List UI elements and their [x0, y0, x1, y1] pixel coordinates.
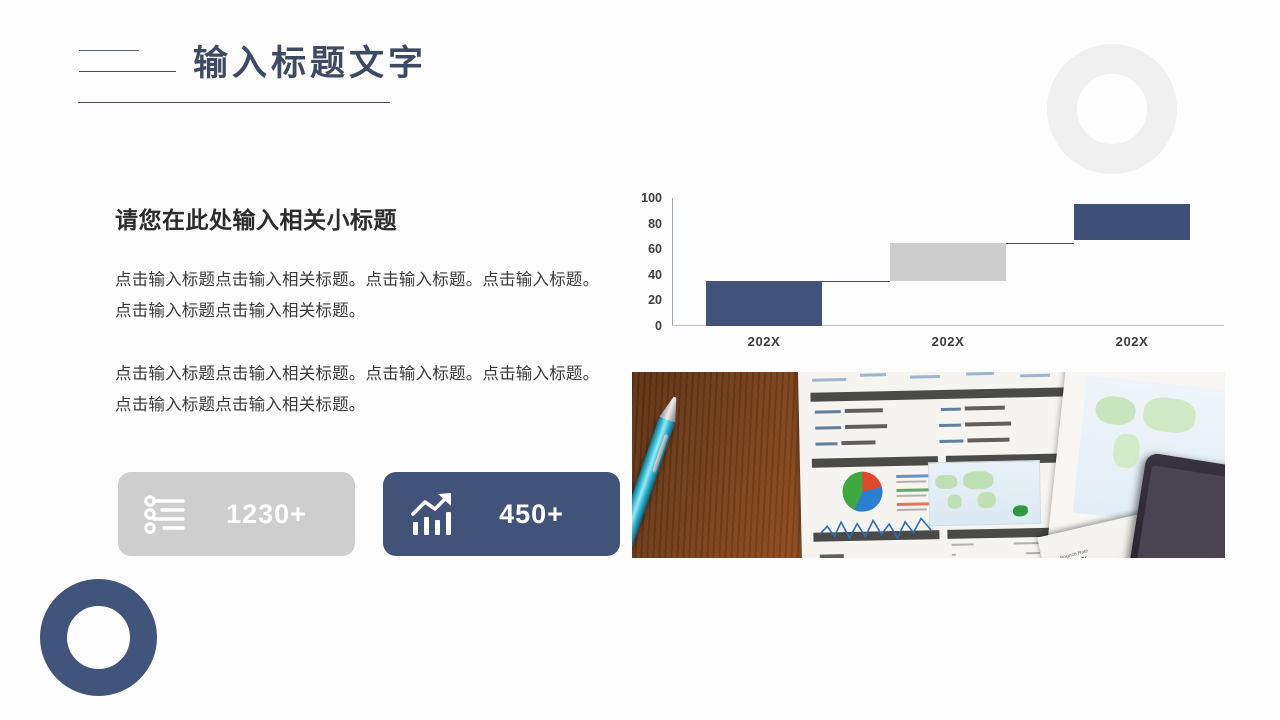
waterfall-bar-2 — [890, 243, 1006, 281]
page-title: 输入标题文字 — [193, 36, 427, 92]
photo-pie-chart — [842, 471, 883, 512]
waterfall-connector-1 — [822, 281, 890, 282]
photo-smartphone-screen — [1136, 465, 1225, 558]
chart-y-axis: 100 80 60 40 20 0 — [632, 198, 666, 326]
body-paragraph-1: 点击输入标题点击输入相关标题。点击输入标题。点击输入标题。点击输入标题点击输入相… — [115, 265, 605, 327]
waterfall-bar-3 — [1074, 204, 1190, 240]
text-content-column: 请您在此处输入相关小标题 点击输入标题点击输入相关标题。点击输入标题。点击输入标… — [115, 205, 605, 421]
photo-sparkline-chart — [819, 510, 932, 546]
x-tick-1: 202X — [672, 334, 856, 349]
y-tick-20: 20 — [648, 293, 662, 307]
stat-card-450[interactable]: 450+ — [383, 472, 620, 556]
section-subheading: 请您在此处输入相关小标题 — [115, 205, 605, 235]
photo-world-map — [928, 460, 1041, 526]
y-tick-0: 0 — [655, 319, 662, 333]
waterfall-chart: 100 80 60 40 20 0 202X 202X 202X — [632, 198, 1224, 358]
stat-card-group: 1230+ 450+ — [118, 472, 620, 556]
photo-report-sheet-main — [798, 372, 1087, 558]
page-header: 输入标题文字 — [78, 36, 468, 110]
waterfall-connector-2 — [1006, 243, 1074, 244]
chart-x-axis: 202X 202X 202X — [672, 334, 1224, 349]
photo-map-australia — [1013, 505, 1028, 516]
x-tick-3: 202X — [1040, 334, 1224, 349]
y-tick-40: 40 — [648, 268, 662, 282]
x-tick-2: 202X — [856, 334, 1040, 349]
stat-value-1230: 1230+ — [192, 499, 355, 530]
body-paragraph-2: 点击输入标题点击输入相关标题。点击输入标题。点击输入标题。点击输入标题点击输入相… — [115, 359, 605, 421]
header-underline — [78, 102, 390, 103]
photo-corner-metric: Bounce Rate 43.64% — [1060, 548, 1092, 558]
chart-axis-line-y — [672, 198, 673, 326]
chart-plot-area — [672, 198, 1224, 326]
decorative-ring-top-right — [1047, 44, 1177, 174]
header-decor-line-short — [79, 50, 139, 51]
growth-bar-chart-icon — [405, 488, 457, 540]
y-tick-100: 100 — [641, 191, 662, 205]
waterfall-bar-1 — [706, 281, 822, 326]
y-tick-60: 60 — [648, 242, 662, 256]
stat-value-450: 450+ — [457, 499, 620, 530]
y-tick-80: 80 — [648, 217, 662, 231]
stat-card-1230[interactable]: 1230+ — [118, 472, 355, 556]
analytics-desk-photo: ...10 - May 18, 2010 Bounce Rate 43.64% — [632, 372, 1225, 558]
header-decor-line-long — [79, 71, 176, 72]
sliders-list-icon — [140, 488, 192, 540]
decorative-ring-bottom-left — [40, 579, 157, 696]
